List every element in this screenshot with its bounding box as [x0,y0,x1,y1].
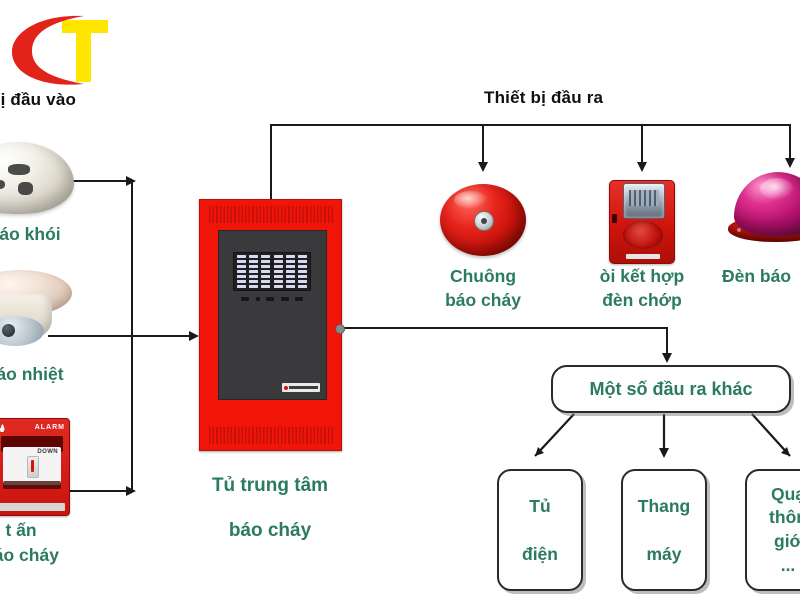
bell-branch-arrow [478,162,488,172]
zone-led [249,280,258,283]
zone-led [274,255,283,258]
company-logo [6,12,121,90]
ventilation-fan-line1: Quạ [771,484,800,504]
zone-led [298,280,307,283]
other-outputs-line-h [343,327,668,329]
panel-button[interactable] [281,297,289,301]
horn-strobe [609,180,675,264]
elevator-line1: Thang [638,496,691,516]
manual-call-point-label-line2: báo cháy [0,543,86,567]
manual-call-point-body: ALARM DOWN [0,418,70,516]
ventilation-fan-line4: ... [781,555,796,575]
strobe-lens [623,183,665,219]
alarm-bell-dome [440,184,526,256]
manual-call-point-label-line1: t ấn [0,518,86,542]
horn-branch-arrow [637,162,647,172]
zone-led [237,275,246,278]
zone-led [298,260,307,263]
other-outputs-arrow [662,353,672,363]
zone-led [261,260,270,263]
ventilation-fan-line2: thôn [769,507,800,527]
beacon-branch-line [789,124,791,160]
panel-cabinet [199,199,342,451]
ventilation-fan-label: Quạ thôn giớ ... [769,483,800,578]
zone-led [249,275,258,278]
beacon-branch-arrow [785,158,795,168]
zone-led [237,285,246,288]
smoke-detector-label: áo khói [0,222,100,246]
zone-led [274,260,283,263]
logo-mark [6,12,121,90]
zone-led-column [261,255,270,288]
zone-led-column [237,255,246,288]
electrical-cabinet-line2: điện [522,544,558,564]
panel-button[interactable] [295,297,303,301]
zone-led [237,260,246,263]
horn-strobe-label-line2: đèn chớp [572,288,712,312]
zone-led [261,275,270,278]
beacon-light-label-line1: Đèn báo [722,264,800,288]
smoke-connector-arrow [126,176,136,186]
ventilation-fan-box[interactable]: Quạ thôn giớ ... [745,469,800,591]
zone-led [261,255,270,258]
fire-alarm-control-panel[interactable] [199,199,342,451]
other-outputs-line-v [666,327,668,355]
diagram-canvas: bị đầu vào Thiết bị đầu ra [0,0,800,600]
panel-button[interactable] [256,297,260,301]
zone-led-indicator-grid [233,252,311,291]
zone-led [286,270,295,273]
zone-led [249,260,258,263]
other-outputs-fanout [490,412,800,472]
beacon-light [728,172,800,252]
panel-key-switch[interactable] [335,324,345,334]
zone-led [286,280,295,283]
zone-led [286,260,295,263]
heat-connector-arrow [189,331,199,341]
electrical-cabinet-label: Tủ điện [522,494,558,566]
panel-vent-bottom [209,427,333,444]
zone-led [298,270,307,273]
manual-call-point: ALARM DOWN [0,418,70,516]
zone-led [261,280,270,283]
elevator-line2: máy [646,544,681,564]
zone-led [249,255,258,258]
manual-call-point-lever: DOWN [3,447,61,485]
zone-led [286,255,295,258]
panel-button-row[interactable] [241,297,303,301]
zone-led [298,265,307,268]
bell-branch-line [482,124,484,164]
zone-led [237,255,246,258]
panel-button[interactable] [266,297,274,301]
zone-led [286,285,295,288]
alarm-bell [440,184,526,258]
manual-call-point-lever-text: DOWN [37,449,58,455]
alarm-bell-label-line1: Chuông [413,264,553,288]
zone-led [261,265,270,268]
zone-led [298,275,307,278]
zone-led [298,285,307,288]
zone-led-column [298,255,307,288]
heat-detector [0,270,76,366]
manual-call-point-title: ALARM [0,424,65,432]
zone-led [274,270,283,273]
electrical-cabinet-box[interactable]: Tủ điện [497,469,583,591]
zone-led [237,270,246,273]
zone-led [249,270,258,273]
alarm-bell-label-line2: báo cháy [413,288,553,312]
panel-label-line2: báo cháy [180,518,360,544]
input-section-heading: bị đầu vào [0,90,76,110]
elevator-box[interactable]: Thang máy [621,469,707,591]
output-section-heading: Thiết bị đầu ra [484,88,603,108]
panel-brand-badge [282,383,320,392]
zone-led [237,265,246,268]
panel-face [218,230,327,400]
smoke-detector [0,136,74,222]
smoke-detector-dome [0,142,74,214]
alarm-bell-hub [474,211,494,231]
horn-strobe-body [609,180,675,264]
zone-led [274,285,283,288]
panel-button[interactable] [241,297,249,301]
other-outputs-title: Một số đầu ra khác [589,377,752,402]
heat-detector-label: áo nhiệt [0,362,100,386]
zone-led [274,280,283,283]
pull-connector-arrow [126,486,136,496]
elevator-label: Thang máy [638,494,691,566]
zone-led [249,285,258,288]
zone-led-column [286,255,295,288]
zone-led [274,265,283,268]
horn-branch-line [641,124,643,164]
zone-led [237,280,246,283]
zone-led [249,265,258,268]
output-bus-line [270,124,790,126]
zone-led-column [274,255,283,288]
other-outputs-box[interactable]: Một số đầu ra khác [551,365,791,413]
zone-led [298,255,307,258]
zone-led [286,265,295,268]
zone-led [261,285,270,288]
zone-led-column [249,255,258,288]
panel-vent-top [209,206,333,223]
zone-led [274,275,283,278]
horn-strobe-label-line1: òi kết hợp [572,264,712,288]
zone-led [286,275,295,278]
horn-grille [623,221,663,249]
heat-detector-sensor [0,316,44,346]
zone-led [261,270,270,273]
beacon-light-dome [734,172,800,236]
output-bus-left-drop [270,124,272,200]
panel-label-line1: Tủ trung tâm [180,473,360,499]
electrical-cabinet-line1: Tủ [529,496,550,516]
ventilation-fan-line3: giớ [774,531,800,551]
